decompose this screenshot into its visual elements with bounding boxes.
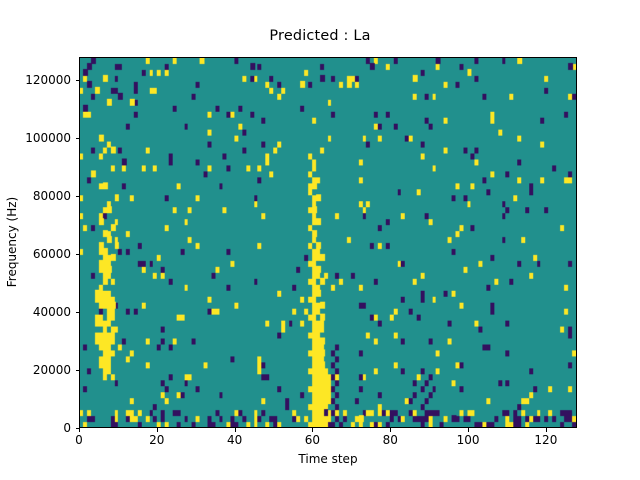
x-tick-label: 120 bbox=[534, 433, 557, 447]
x-tick-label: 60 bbox=[305, 433, 320, 447]
y-tick bbox=[76, 80, 80, 81]
y-tick-label: 60000 bbox=[33, 247, 71, 261]
x-tick-label: 100 bbox=[457, 433, 480, 447]
y-axis-label: Frequency (Hz) bbox=[5, 197, 19, 288]
heatmap-canvas bbox=[80, 58, 576, 427]
y-tick-label: 20000 bbox=[33, 363, 71, 377]
y-tick-label: 40000 bbox=[33, 305, 71, 319]
y-tick bbox=[76, 254, 80, 255]
x-tick bbox=[390, 428, 391, 432]
y-tick bbox=[76, 196, 80, 197]
y-tick-label: 0 bbox=[63, 421, 71, 435]
y-axis-label-wrapper: Frequency (Hz) bbox=[12, 0, 13, 480]
y-tick bbox=[76, 428, 80, 429]
x-tick bbox=[79, 428, 80, 432]
x-tick bbox=[312, 428, 313, 432]
x-tick-label: 40 bbox=[227, 433, 242, 447]
x-axis-label: Time step bbox=[79, 452, 577, 466]
chart-title: Predicted : La bbox=[0, 28, 640, 44]
x-tick-label: 80 bbox=[383, 433, 398, 447]
heatmap-axes bbox=[79, 57, 577, 428]
y-tick-label: 120000 bbox=[25, 73, 71, 87]
x-tick-label: 20 bbox=[149, 433, 164, 447]
x-tick bbox=[235, 428, 236, 432]
matplotlib-figure: Predicted : La 020406080100120 020000400… bbox=[0, 0, 640, 480]
y-tick-label: 100000 bbox=[25, 131, 71, 145]
y-tick bbox=[76, 370, 80, 371]
x-tick bbox=[546, 428, 547, 432]
x-tick bbox=[157, 428, 158, 432]
y-tick-label: 80000 bbox=[33, 189, 71, 203]
x-tick bbox=[468, 428, 469, 432]
y-tick bbox=[76, 312, 80, 313]
x-tick-label: 0 bbox=[75, 433, 83, 447]
y-tick bbox=[76, 138, 80, 139]
